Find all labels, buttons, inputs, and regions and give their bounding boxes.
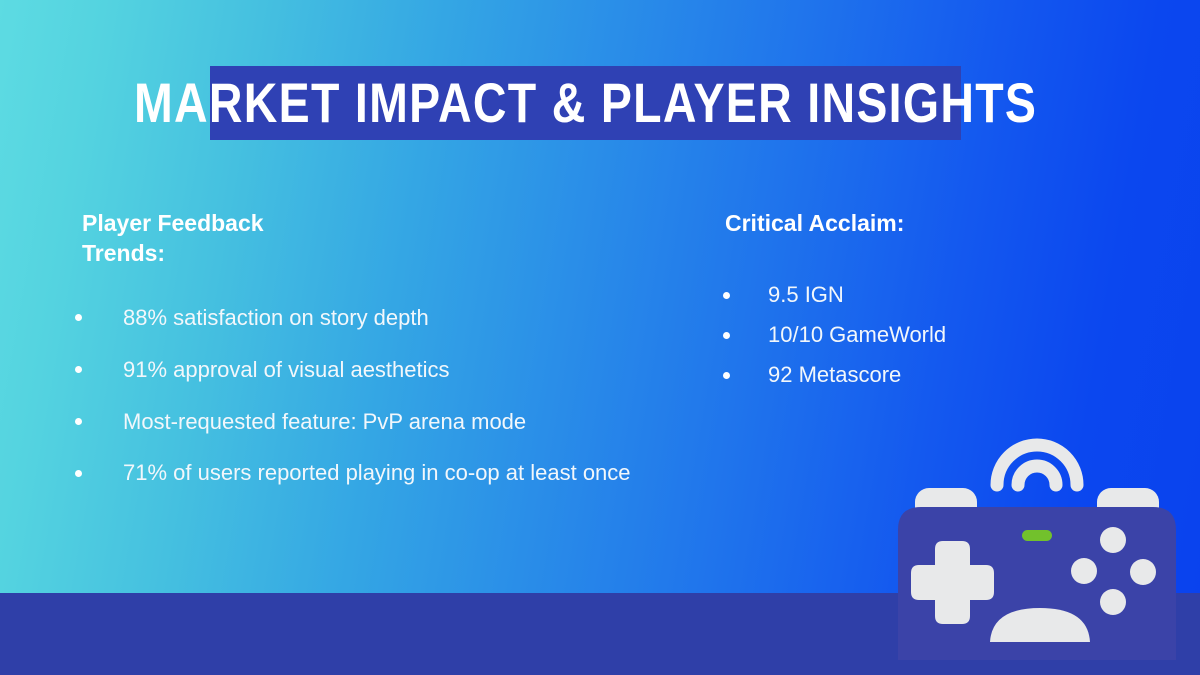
right-column: Critical Acclaim: 9.5 IGN 10/10 GameWorl… (705, 208, 1125, 400)
left-column-heading: Player Feedback Trends: (82, 208, 740, 269)
list-item: 92 Metascore (705, 360, 1125, 390)
list-item: 91% approval of visual aesthetics (60, 355, 740, 385)
led-indicator (1022, 530, 1052, 541)
list-item: 88% satisfaction on story depth (60, 303, 740, 333)
bullet-dot-icon (723, 372, 730, 379)
bullet-dot-icon (723, 332, 730, 339)
list-item: Most-requested feature: PvP arena mode (60, 407, 740, 437)
slide-canvas: Market Impact & Player Insights Player F… (0, 0, 1200, 675)
list-item-label: 10/10 GameWorld (768, 320, 1125, 350)
list-item-label: 88% satisfaction on story depth (123, 303, 740, 333)
player-feedback-bullet-list: 88% satisfaction on story depth 91% appr… (60, 303, 740, 489)
list-item-label: Most-requested feature: PvP arena mode (123, 407, 740, 437)
action-button-bottom (1100, 589, 1126, 615)
page-title: Market Impact & Player Insights (134, 75, 1037, 131)
bullet-dot-icon (75, 366, 82, 373)
bullet-dot-icon (75, 314, 82, 321)
list-item: 71% of users reported playing in co-op a… (60, 458, 740, 488)
title-banner: Market Impact & Player Insights (210, 66, 961, 140)
critical-acclaim-bullet-list: 9.5 IGN 10/10 GameWorld 92 Metascore (705, 280, 1125, 390)
list-item-label: 9.5 IGN (768, 280, 1125, 310)
list-item-label: 91% approval of visual aesthetics (123, 355, 740, 385)
action-button-top (1100, 527, 1126, 553)
action-button-left (1071, 558, 1097, 584)
list-item-label: 71% of users reported playing in co-op a… (123, 458, 740, 488)
right-column-heading: Critical Acclaim: (725, 208, 1125, 238)
left-column: Player Feedback Trends: 88% satisfaction… (60, 208, 740, 510)
bullet-dot-icon (723, 292, 730, 299)
wireless-signal-icon (997, 445, 1077, 485)
bullet-dot-icon (75, 418, 82, 425)
bullet-dot-icon (75, 470, 82, 477)
list-item-label: 92 Metascore (768, 360, 1125, 390)
list-item: 9.5 IGN (705, 280, 1125, 310)
game-controller-icon (890, 410, 1190, 660)
action-button-right (1130, 559, 1156, 585)
list-item: 10/10 GameWorld (705, 320, 1125, 350)
